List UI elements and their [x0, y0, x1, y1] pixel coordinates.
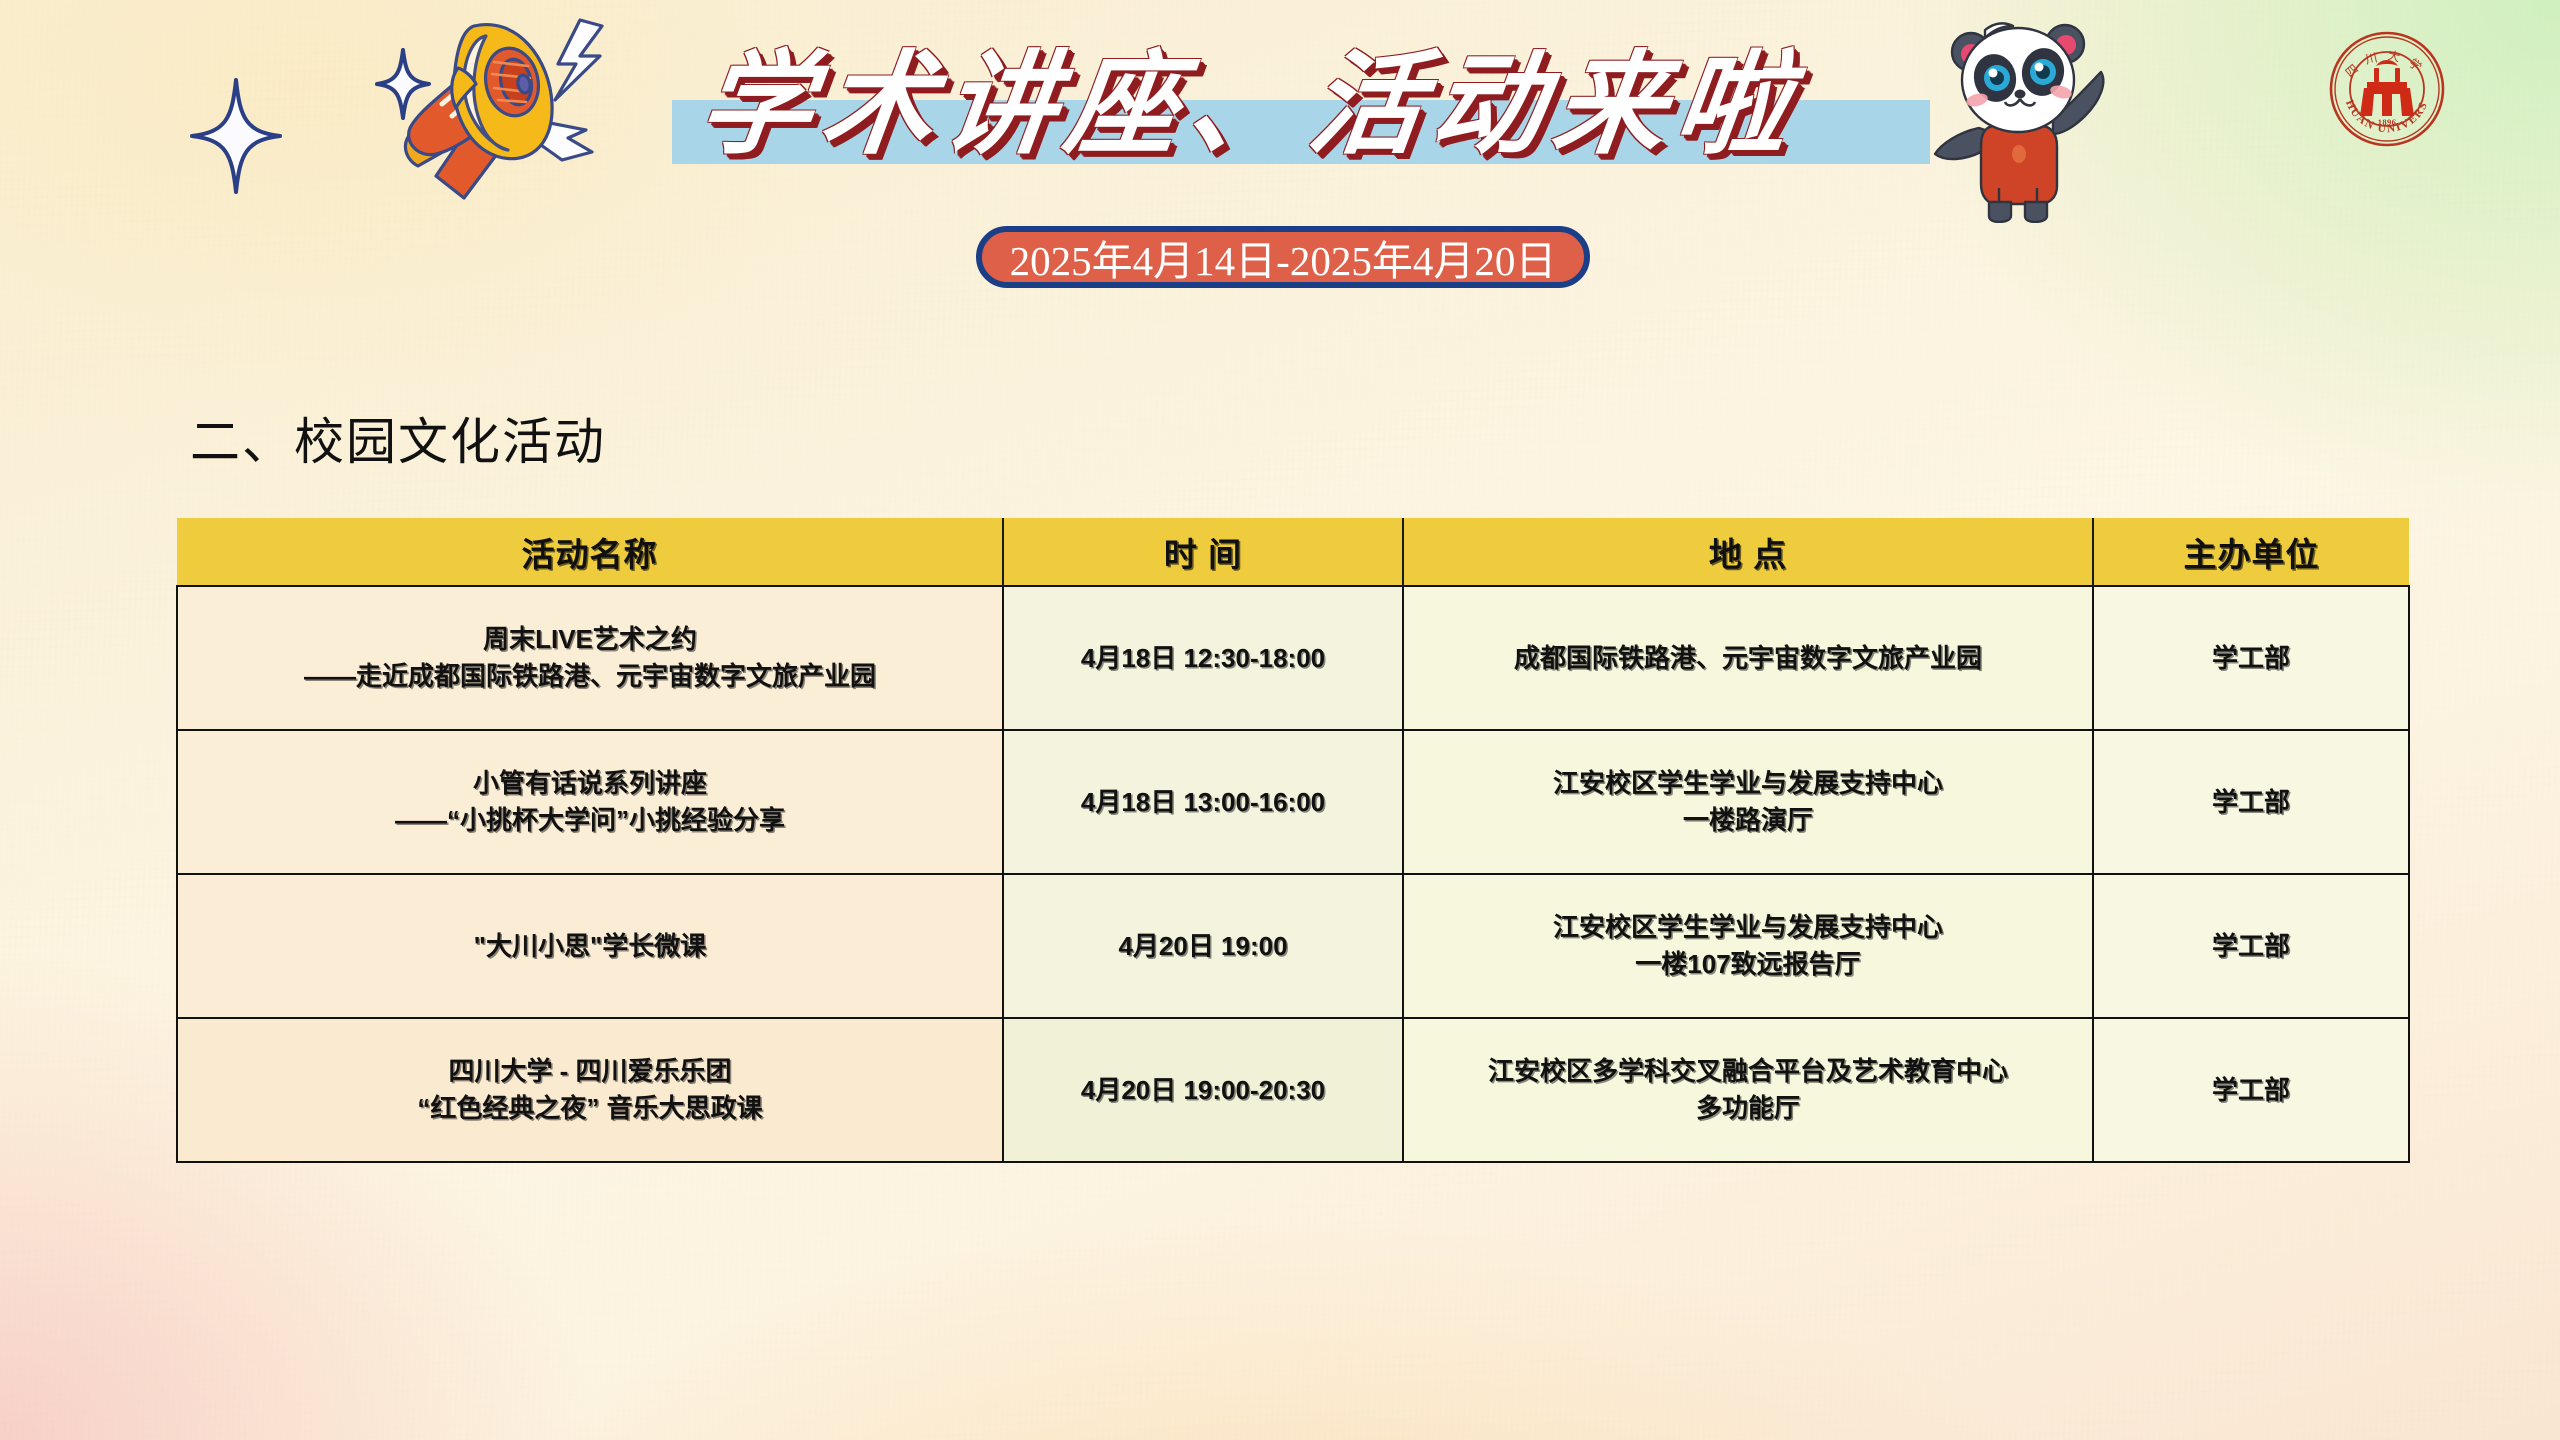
table-row: 四川大学 - 四川爱乐乐团 “红色经典之夜” 音乐大思政课 4月20日 19:0…: [177, 1018, 2409, 1162]
svg-text:四川大学: 四川大学: [2343, 48, 2432, 80]
page-title: 学术讲座、活动来啦: [691, 36, 1908, 176]
cell-activity-name: 周末LIVE艺术之约 ——走近成都国际铁路港、元宇宙数字文旅产业园: [177, 586, 1003, 730]
location-line-1: 江安校区学生学业与发展支持中心: [1416, 909, 2080, 946]
cell-activity-name: 小管有话说系列讲座 ——“小挑杯大学问”小挑经验分享: [177, 730, 1003, 874]
location-line-1: 江安校区多学科交叉融合平台及艺术教育中心: [1416, 1053, 2080, 1090]
cell-organizer: 学工部: [2093, 1018, 2409, 1162]
column-header-time: 时 间: [1003, 518, 1403, 586]
column-header-activity-name: 活动名称: [177, 518, 1003, 586]
activity-name-line-2: ——走近成都国际铁路港、元宇宙数字文旅产业园: [190, 658, 990, 695]
column-header-location: 地 点: [1403, 518, 2093, 586]
sparkle-icon: [190, 78, 282, 194]
cell-location: 成都国际铁路港、元宇宙数字文旅产业园: [1403, 586, 2093, 730]
table-row: 小管有话说系列讲座 ——“小挑杯大学问”小挑经验分享 4月18日 13:00-1…: [177, 730, 2409, 874]
table-row: "大川小思"学长微课 4月20日 19:00 江安校区学生学业与发展支持中心 一…: [177, 874, 2409, 1018]
cell-activity-name: "大川小思"学长微课: [177, 874, 1003, 1018]
section-heading: 二、校园文化活动: [190, 402, 606, 474]
activity-name-line-1: 小管有话说系列讲座: [190, 765, 990, 802]
location-line-2: 多功能厅: [1416, 1090, 2080, 1127]
activity-name-line-1: 四川大学 - 四川爱乐乐团: [190, 1053, 990, 1090]
cell-time: 4月20日 19:00: [1003, 874, 1403, 1018]
cell-organizer: 学工部: [2093, 730, 2409, 874]
cell-organizer: 学工部: [2093, 586, 2409, 730]
poster-header: 学术讲座、活动来啦 2025年4月14日-2025年4月20日: [0, 0, 2560, 330]
date-range-banner: 2025年4月14日-2025年4月20日: [978, 228, 1588, 286]
cell-activity-name: 四川大学 - 四川爱乐乐团 “红色经典之夜” 音乐大思政课: [177, 1018, 1003, 1162]
megaphone-icon: [318, 8, 658, 258]
activity-name-line-1: 周末LIVE艺术之约: [190, 621, 990, 658]
activity-schedule-table: 活动名称 时 间 地 点 主办单位 周末LIVE艺术之约 ——走近成都国际铁路港…: [176, 518, 2410, 1163]
table-header-row: 活动名称 时 间 地 点 主办单位: [177, 518, 2409, 586]
cell-location: 江安校区学生学业与发展支持中心 一楼107致远报告厅: [1403, 874, 2093, 1018]
date-range-text: 2025年4月14日-2025年4月20日: [1010, 227, 1557, 287]
panda-mascot-icon: [1925, 8, 2105, 223]
table-row: 周末LIVE艺术之约 ——走近成都国际铁路港、元宇宙数字文旅产业园 4月18日 …: [177, 586, 2409, 730]
cell-time: 4月18日 12:30-18:00: [1003, 586, 1403, 730]
cell-location: 江安校区多学科交叉融合平台及艺术教育中心 多功能厅: [1403, 1018, 2093, 1162]
cell-time: 4月20日 19:00-20:30: [1003, 1018, 1403, 1162]
activity-name-line-2: “红色经典之夜” 音乐大思政课: [190, 1090, 990, 1127]
sichuan-university-logo: 1896 SICHUAN UNIVERSITY 四川大学: [2328, 30, 2446, 148]
activity-name-line-1: "大川小思"学长微课: [190, 928, 990, 965]
cell-location: 江安校区学生学业与发展支持中心 一楼路演厅: [1403, 730, 2093, 874]
location-line-1: 江安校区学生学业与发展支持中心: [1416, 765, 2080, 802]
activity-name-line-2: ——“小挑杯大学问”小挑经验分享: [190, 802, 990, 839]
column-header-organizer: 主办单位: [2093, 518, 2409, 586]
cell-organizer: 学工部: [2093, 874, 2409, 1018]
location-line-1: 成都国际铁路港、元宇宙数字文旅产业园: [1416, 640, 2080, 677]
location-line-2: 一楼107致远报告厅: [1416, 946, 2080, 983]
location-line-2: 一楼路演厅: [1416, 802, 2080, 839]
cell-time: 4月18日 13:00-16:00: [1003, 730, 1403, 874]
